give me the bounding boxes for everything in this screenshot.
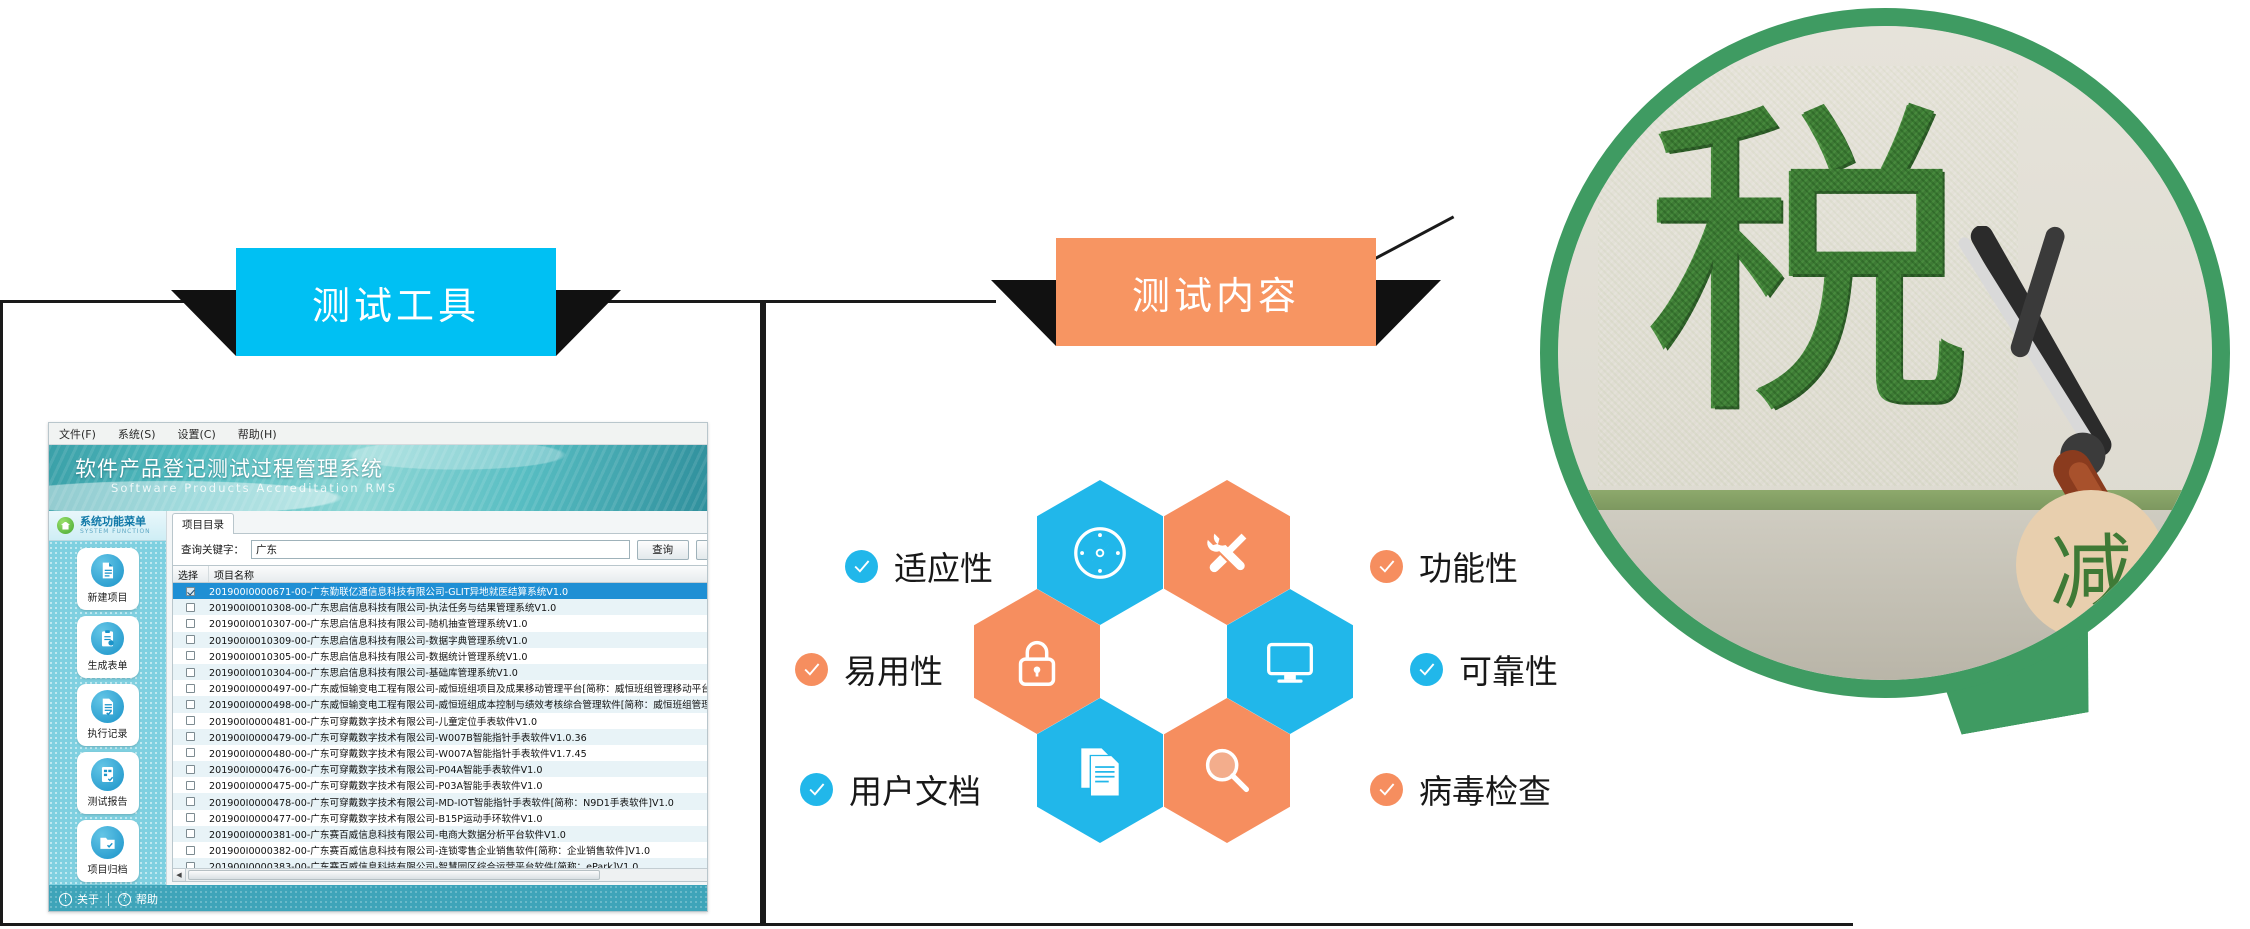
- monitor-icon: [1259, 631, 1321, 693]
- frame-line-bottom: [0, 923, 763, 926]
- grid-header-row: 选择 项目名称: [173, 566, 708, 583]
- question-icon: ?: [118, 893, 131, 906]
- help-button[interactable]: ? 帮助: [118, 891, 158, 907]
- banner-tail-right-2: [1376, 280, 1441, 346]
- table-row[interactable]: 201900I0010307-00-广东思启信息科技有限公司-随机抽查管理系统V…: [173, 615, 708, 631]
- tools-icon: [1196, 522, 1258, 584]
- table-row[interactable]: 201900I0000478-00-广东可穿戴数字技术有限公司-MD-IOT智能…: [173, 793, 708, 809]
- folder-archive-icon: [91, 826, 124, 859]
- row-checkbox[interactable]: [186, 668, 195, 677]
- row-checkbox[interactable]: [186, 829, 195, 838]
- documents-icon: [1069, 740, 1131, 802]
- search-bar: 查询关键字： 查询 清空: [172, 534, 708, 566]
- row-project-name: 201900I0000476-00-广东可穿戴数字技术有限公司-P04A智能手表…: [195, 762, 542, 776]
- row-checkbox[interactable]: [186, 862, 195, 868]
- row-project-name: 201900I0000671-00-广东勤联亿通信息科技有限公司-GLIT异地就…: [195, 584, 568, 598]
- row-checkbox[interactable]: [186, 635, 195, 644]
- table-row[interactable]: 201900I0000381-00-广东赛百威信息科技有限公司-电商大数据分析平…: [173, 826, 708, 842]
- table-row[interactable]: 201900I0000498-00-广东威恒输变电工程有限公司-威恒班组成本控制…: [173, 696, 708, 712]
- compass-icon: [1069, 522, 1131, 584]
- scrollbar-track[interactable]: [186, 869, 708, 881]
- sidebar-item-exec-record[interactable]: 执行记录: [77, 684, 139, 746]
- table-row[interactable]: 201900I0000476-00-广东可穿戴数字技术有限公司-P04A智能手表…: [173, 761, 708, 777]
- app-title-english: Software Products Accreditation RMS: [111, 481, 397, 495]
- row-checkbox[interactable]: [186, 781, 195, 790]
- table-row[interactable]: 201900I0000382-00-广东赛百威信息科技有限公司-连锁零售企业销售…: [173, 842, 708, 858]
- row-checkbox[interactable]: [186, 748, 195, 757]
- table-row[interactable]: 201900I0000475-00-广东可穿戴数字技术有限公司-P03A智能手表…: [173, 777, 708, 793]
- row-project-name: 201900I0000481-00-广东可穿戴数字技术有限公司-儿童定位手表软件…: [195, 714, 537, 728]
- magnifier-photo: 税 减: [1558, 26, 2212, 680]
- magnifier-icon: [1196, 740, 1258, 802]
- sidebar: 系统功能菜单 SYSTEM FUNCTION 新建项目 生成表单: [49, 511, 167, 885]
- row-checkbox[interactable]: [186, 732, 195, 741]
- app-title-chinese: 软件产品登记测试过程管理系统: [75, 453, 383, 483]
- table-row[interactable]: 201900I0010304-00-广东思启信息科技有限公司-基础库管理系统V1…: [173, 664, 708, 680]
- menu-item-help[interactable]: 帮助(H): [238, 426, 277, 442]
- row-checkbox[interactable]: [186, 651, 195, 660]
- frame-line-bottom-2: [763, 923, 1853, 926]
- row-checkbox[interactable]: [186, 797, 195, 806]
- magnifier-graphic: 税 减: [1540, 8, 2230, 698]
- lock-icon: [1006, 631, 1068, 693]
- search-input[interactable]: [251, 540, 630, 559]
- report-check-icon: [91, 758, 124, 791]
- row-project-name: 201900I0000480-00-广东可穿戴数字技术有限公司-W007A智能指…: [195, 746, 587, 760]
- row-project-name: 201900I0010305-00-广东思启信息科技有限公司-数据统计管理系统V…: [195, 649, 527, 663]
- row-checkbox[interactable]: [186, 684, 195, 693]
- query-button[interactable]: 查询: [637, 540, 689, 560]
- feature-usability[interactable]: 易用性: [795, 645, 943, 693]
- sidebar-item-generate-form[interactable]: 生成表单: [77, 616, 139, 678]
- feature-label-adaptability: 适应性: [894, 542, 993, 590]
- clipboard-form-icon: [91, 622, 124, 655]
- app-body: 系统功能菜单 SYSTEM FUNCTION 新建项目 生成表单: [49, 511, 707, 885]
- about-label: 关于: [77, 891, 99, 907]
- row-project-name: 201900I0000475-00-广东可穿戴数字技术有限公司-P03A智能手表…: [195, 778, 542, 792]
- sidebar-label-new-project: 新建项目: [88, 589, 128, 604]
- about-button[interactable]: ! 关于: [59, 891, 99, 907]
- row-project-name: 201900I0010308-00-广东思启信息科技有限公司-执法任务与结果管理…: [195, 600, 556, 614]
- table-row[interactable]: 201900I0000497-00-广东威恒输变电工程有限公司-威恒班组项目及成…: [173, 680, 708, 696]
- check-badge-icon-5: [800, 773, 833, 806]
- sidebar-title-english: SYSTEM FUNCTION: [80, 529, 151, 535]
- sidebar-header: 系统功能菜单 SYSTEM FUNCTION: [49, 511, 166, 541]
- frame-line-left: [0, 300, 3, 926]
- sidebar-title-chinese: 系统功能菜单: [80, 516, 151, 527]
- search-label: 查询关键字：: [181, 542, 244, 557]
- feature-label-virus-check: 病毒检查: [1419, 765, 1551, 813]
- row-project-name: 201900I0000497-00-广东威恒输变电工程有限公司-威恒班组项目及成…: [195, 681, 708, 695]
- table-row[interactable]: 201900I0000671-00-广东勤联亿通信息科技有限公司-GLIT异地就…: [173, 583, 708, 599]
- sidebar-label-test-report: 测试报告: [88, 793, 128, 808]
- sidebar-items: 新建项目 生成表单 执行记录: [49, 541, 166, 882]
- sidebar-label-archive: 项目归档: [88, 861, 128, 876]
- row-checkbox[interactable]: [186, 700, 195, 709]
- row-checkbox[interactable]: [186, 765, 195, 774]
- row-checkbox[interactable]: [186, 619, 195, 628]
- banner-test-content: 测试内容: [966, 238, 1466, 348]
- row-project-name: 201900I0000383-00-广东赛百威信息科技有限公司-智慧园区综合运营…: [195, 859, 638, 868]
- row-project-name: 201900I0010304-00-广东思启信息科技有限公司-基础库管理系统V1…: [195, 665, 518, 679]
- check-badge-icon-6: [1370, 773, 1403, 806]
- check-badge-icon-3: [795, 653, 828, 686]
- status-bar: ! 关于 ? 帮助: [49, 885, 707, 912]
- horizontal-scrollbar[interactable]: ◀ ▶: [173, 868, 708, 881]
- row-project-name: 201900I0000381-00-广东赛百威信息科技有限公司-电商大数据分析平…: [195, 827, 566, 841]
- check-badge-icon: [845, 550, 878, 583]
- menu-item-settings[interactable]: 设置(C): [178, 426, 216, 442]
- row-project-name: 201900I0010307-00-广东思启信息科技有限公司-随机抽查管理系统V…: [195, 616, 527, 630]
- banner-label-test-content: 测试内容: [1056, 238, 1376, 346]
- home-icon: [57, 517, 74, 534]
- row-project-name: 201900I0010309-00-广东思启信息科技有限公司-数据字典管理系统V…: [195, 633, 527, 647]
- project-grid: 选择 项目名称 201900I0000671-00-广东勤联亿通信息科技有限公司…: [172, 566, 708, 882]
- feature-adaptability[interactable]: 适应性: [845, 542, 993, 590]
- banner-tail-right: [556, 290, 621, 356]
- row-checkbox[interactable]: [186, 813, 195, 822]
- main-pane: 项目目录 查询关键字： 查询 清空 选择 项目名称 201900I0000671…: [167, 511, 708, 885]
- new-document-icon: [91, 554, 124, 587]
- feature-label-usability: 易用性: [844, 645, 943, 693]
- sidebar-item-archive[interactable]: 项目归档: [77, 820, 139, 882]
- banner-tail-left: [171, 290, 236, 356]
- tab-strip-filler: [234, 515, 708, 534]
- frame-line-top-left-2: [763, 300, 996, 303]
- row-project-name: 201900I0000498-00-广东威恒输变电工程有限公司-威恒班组成本控制…: [195, 697, 708, 711]
- banner-test-tools: 测试工具: [146, 248, 646, 358]
- banner-label-test-tools: 测试工具: [236, 248, 556, 356]
- feature-virus-check[interactable]: 病毒检查: [1370, 765, 1551, 813]
- sidebar-item-new-project[interactable]: 新建项目: [77, 548, 139, 610]
- menu-item-system[interactable]: 系统(S): [118, 426, 156, 442]
- table-row[interactable]: 201900I0000383-00-广东赛百威信息科技有限公司-智慧园区综合运营…: [173, 858, 708, 868]
- banner-tail-left-2: [991, 280, 1056, 346]
- feature-functionality[interactable]: 功能性: [1370, 542, 1518, 590]
- clear-button[interactable]: 清空: [696, 540, 708, 560]
- magnifier-ring: 税 减: [1540, 8, 2230, 698]
- grid-column-select: 选择: [173, 566, 209, 582]
- row-project-name: 201900I0000478-00-广东可穿戴数字技术有限公司-MD-IOT智能…: [195, 795, 674, 809]
- sidebar-label-exec-record: 执行记录: [88, 725, 128, 740]
- scrollbar-thumb[interactable]: [188, 870, 600, 880]
- check-badge-icon-4: [1410, 653, 1443, 686]
- status-divider: [108, 893, 109, 906]
- table-row[interactable]: 201900I0010309-00-广东思启信息科技有限公司-数据字典管理系统V…: [173, 632, 708, 648]
- sidebar-label-generate-form: 生成表单: [88, 657, 128, 672]
- row-checkbox[interactable]: [186, 587, 195, 596]
- photo-reduction-stamp: 减: [2016, 490, 2166, 640]
- info-icon: !: [59, 893, 72, 906]
- feature-reliability[interactable]: 可靠性: [1410, 645, 1558, 693]
- tab-strip: 项目目录: [172, 515, 708, 534]
- app-header-banner: 软件产品登记测试过程管理系统 Software Products Accredi…: [49, 445, 707, 511]
- menu-bar: 文件(F) 系统(S) 设置(C) 帮助(H): [49, 423, 707, 445]
- feature-label-user-docs: 用户文档: [849, 765, 981, 813]
- menu-item-file[interactable]: 文件(F): [59, 426, 96, 442]
- frame-line-left-2: [763, 300, 766, 926]
- application-window: 文件(F) 系统(S) 设置(C) 帮助(H) 软件产品登记测试过程管理系统 S…: [48, 422, 708, 912]
- feature-user-docs[interactable]: 用户文档: [800, 765, 981, 813]
- table-row[interactable]: 201900I0010308-00-广东思启信息科技有限公司-执法任务与结果管理…: [173, 599, 708, 615]
- feature-label-functionality: 功能性: [1419, 542, 1518, 590]
- check-badge-icon-2: [1370, 550, 1403, 583]
- hexagon-cluster: [1037, 480, 1357, 810]
- table-row[interactable]: 201900I0010305-00-广东思启信息科技有限公司-数据统计管理系统V…: [173, 648, 708, 664]
- table-row[interactable]: 201900I0000481-00-广东可穿戴数字技术有限公司-儿童定位手表软件…: [173, 713, 708, 729]
- scroll-left-arrow-icon[interactable]: ◀: [173, 869, 186, 881]
- row-checkbox[interactable]: [186, 846, 195, 855]
- row-checkbox[interactable]: [186, 603, 195, 612]
- sidebar-item-test-report[interactable]: 测试报告: [77, 752, 139, 814]
- row-project-name: 201900I0000479-00-广东可穿戴数字技术有限公司-W007B智能指…: [195, 730, 587, 744]
- tab-project-catalog[interactable]: 项目目录: [172, 513, 234, 534]
- table-row[interactable]: 201900I0000479-00-广东可穿戴数字技术有限公司-W007B智能指…: [173, 729, 708, 745]
- record-list-icon: [91, 690, 124, 723]
- grid-column-name: 项目名称: [209, 566, 708, 582]
- row-project-name: 201900I0000477-00-广东可穿戴数字技术有限公司-B15P运动手环…: [195, 811, 542, 825]
- row-checkbox[interactable]: [186, 716, 195, 725]
- table-row[interactable]: 201900I0000477-00-广东可穿戴数字技术有限公司-B15P运动手环…: [173, 810, 708, 826]
- row-project-name: 201900I0000382-00-广东赛百威信息科技有限公司-连锁零售企业销售…: [195, 843, 650, 857]
- help-label: 帮助: [136, 891, 158, 907]
- grid-rows: 201900I0000671-00-广东勤联亿通信息科技有限公司-GLIT异地就…: [173, 583, 708, 868]
- table-row[interactable]: 201900I0000480-00-广东可穿戴数字技术有限公司-W007A智能指…: [173, 745, 708, 761]
